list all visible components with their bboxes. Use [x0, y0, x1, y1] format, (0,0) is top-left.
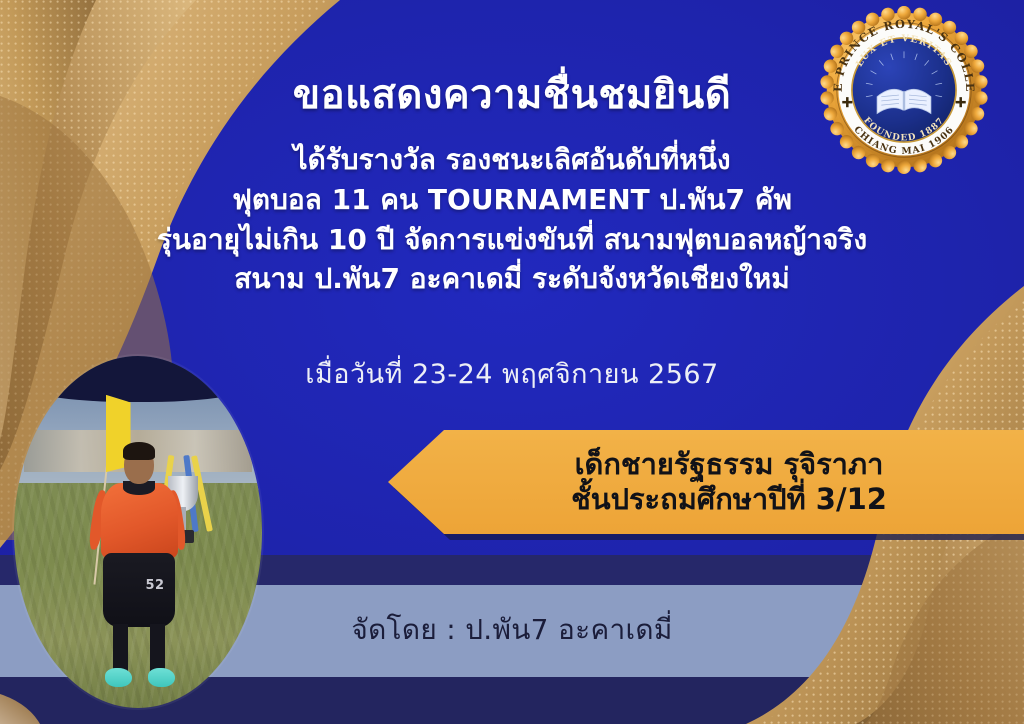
award-line-2: ฟุตบอล 11 คน TOURNAMENT ป.พัน7 คัพ [0, 180, 1024, 220]
award-line-3: รุ่นอายุไม่เกิน 10 ปี จัดการแข่งขันที่ ส… [0, 220, 1024, 260]
award-line-4: สนาม ป.พัน7 อะคาเดมี่ ระดับจังหวัดเชียงใ… [0, 259, 1024, 299]
award-line-1: ได้รับรางวัล รองชนะเลิศอันดับที่หนึ่ง [0, 140, 1024, 180]
recipient-banner: เด็กชายรัฐธรรม รุจิราภา ชั้นประถมศึกษาปี… [388, 430, 1024, 534]
page-title: ขอแสดงความชื่นชมยินดี [0, 62, 1024, 126]
recipient-name: เด็กชายรัฐธรรม รุจิราภา [529, 447, 884, 482]
jersey-number: 52 [145, 578, 164, 593]
congratulations-poster: THE PRINCE ROYAL'S COLLEGE CHIANG MAI 19… [0, 0, 1024, 724]
event-date: เมื่อวันที่ 23-24 พฤศจิกายน 2567 [0, 352, 1024, 395]
recipient-class: ชั้นประถมศึกษาปีที่ 3/12 [525, 482, 887, 517]
organizer-line: จัดโดย : ป.พัน7 อะคาเดมี่ [0, 608, 1024, 652]
award-description: ได้รับรางวัล รองชนะเลิศอันดับที่หนึ่ง ฟุ… [0, 140, 1024, 299]
athlete-photo: 52 [14, 356, 262, 708]
